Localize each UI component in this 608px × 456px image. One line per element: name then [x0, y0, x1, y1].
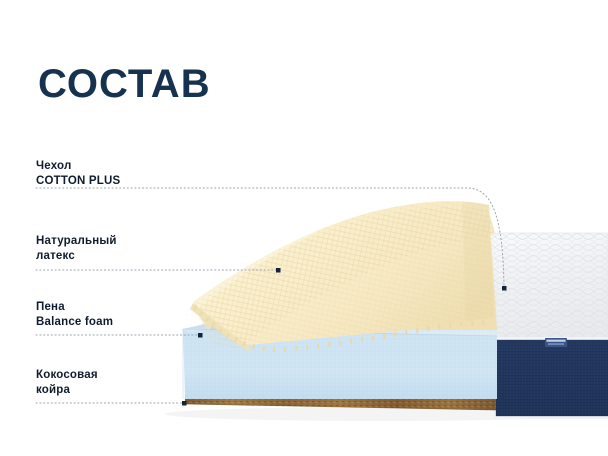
callout-coir-line1: Кокосовая	[36, 369, 98, 381]
callout-cover-line1: Чехол	[36, 160, 71, 172]
callout-label-latex: Натуральный латекс	[36, 234, 117, 263]
callout-label-cover: Чехол COTTON PLUS	[36, 159, 120, 188]
brand-tag	[545, 338, 567, 347]
balance-foam-layer	[180, 280, 500, 402]
leader-lines	[36, 188, 504, 403]
side-panel	[493, 337, 608, 419]
callout-latex-line2: латекс	[36, 249, 117, 264]
callout-foam-line1: Пена	[36, 301, 65, 313]
callout-foam-line2: Balance foam	[36, 315, 113, 330]
drop-shadow	[165, 407, 595, 421]
latex-perforated-edge	[193, 305, 485, 352]
callout-cover-line2: COTTON PLUS	[36, 174, 120, 189]
quilted-cover-layer	[455, 228, 608, 359]
natural-latex-layer	[180, 195, 510, 360]
callout-label-foam: Пена Balance foam	[36, 300, 113, 329]
callout-coir-line2: койра	[36, 383, 98, 398]
page-title: СОСТАВ	[38, 64, 211, 104]
callout-latex-line1: Натуральный	[36, 235, 117, 247]
endpoint-latex	[276, 268, 281, 273]
endpoint-foam	[198, 333, 203, 338]
leader-endpoints	[182, 268, 507, 406]
endpoint-cover	[502, 286, 507, 291]
callout-label-coir: Кокосовая койра	[36, 368, 98, 397]
endpoint-coir	[182, 401, 187, 406]
coconut-coir-layer	[185, 398, 496, 410]
illustration-canvas: СОСТАВ	[0, 0, 608, 456]
